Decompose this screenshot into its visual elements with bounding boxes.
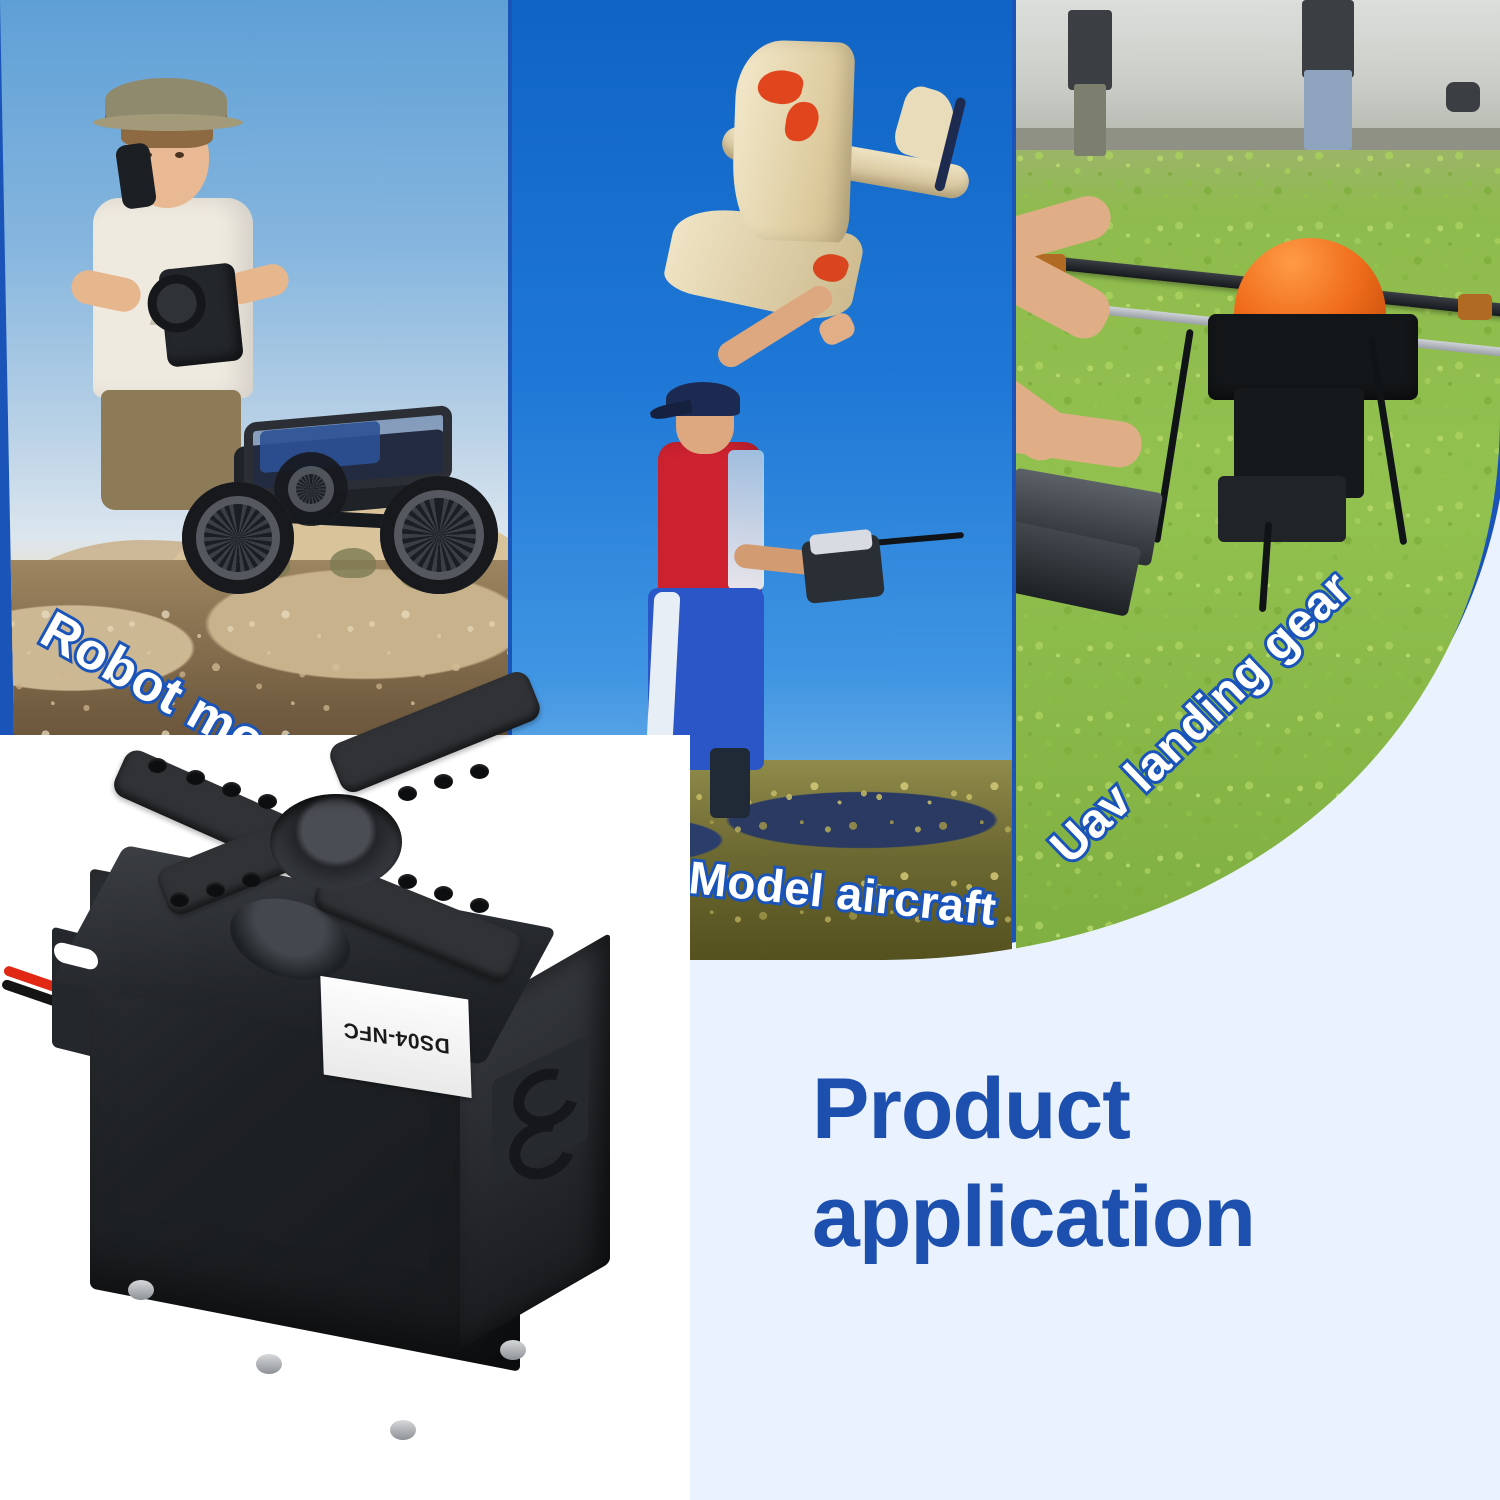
person-launching-plane — [624, 300, 854, 800]
horn-hole — [170, 892, 189, 907]
uav-orange-dome — [1234, 238, 1386, 324]
servo-foot — [128, 1280, 154, 1300]
horn-hole — [242, 872, 261, 887]
dog — [1446, 82, 1480, 112]
uav-camera-gimbal — [1218, 476, 1346, 542]
servo-label-model: DS04-NFC — [342, 1016, 449, 1057]
pedestrian-adult-legs — [1304, 70, 1352, 150]
headline-line-1: Product — [812, 1061, 1130, 1157]
boy-hat-brim — [93, 114, 243, 131]
rc-transmitter — [158, 262, 244, 367]
horn-hole — [470, 764, 489, 779]
pedestrian-child — [1068, 10, 1112, 90]
horn-hole — [398, 786, 417, 801]
horn-hole — [470, 898, 489, 913]
horn-hole — [398, 874, 417, 889]
horn-hole — [186, 770, 205, 785]
horn-hole — [434, 886, 453, 901]
boy-eye-right — [175, 152, 184, 158]
pedestrian-adult — [1302, 0, 1354, 78]
horn-hole — [434, 774, 453, 789]
servo-foot — [500, 1340, 526, 1360]
headline-product-application: Product application — [812, 1055, 1452, 1272]
headline-line-2: application — [812, 1163, 1452, 1271]
servo-horn-cross — [130, 740, 530, 960]
servo-motor-product-image[interactable]: DS04-NFC — [60, 740, 700, 1460]
servo-foot — [390, 1420, 416, 1440]
horn-hole — [222, 782, 241, 797]
pilot-hand — [816, 310, 858, 348]
horn-hole — [206, 882, 225, 897]
poster-canvas: Robot model Model aircraft Uav landing g… — [0, 0, 1500, 1500]
horn-center-hub — [270, 794, 402, 890]
servo-foot — [256, 1354, 282, 1374]
rc-rock-crawler — [188, 400, 488, 630]
pedestrian-child-legs — [1074, 84, 1106, 156]
pilot-leg — [710, 748, 750, 818]
uav-multirotor — [1112, 232, 1500, 592]
uav-motor — [1458, 294, 1492, 320]
crawler-wheel-right — [380, 476, 498, 594]
horn-hole — [258, 794, 277, 809]
horn-hole — [148, 758, 167, 773]
crawler-wheel-left — [182, 482, 294, 594]
